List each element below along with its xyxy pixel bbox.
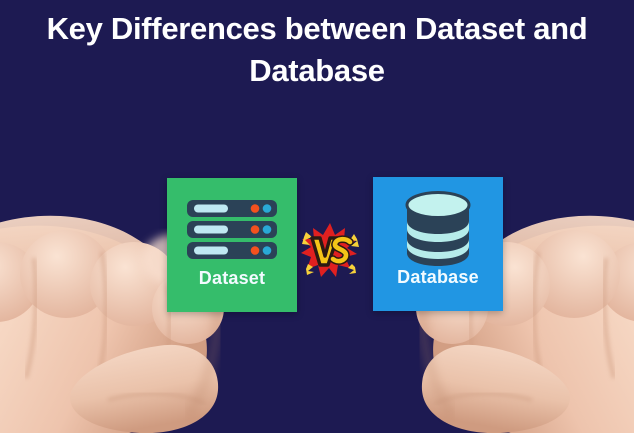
dataset-card-label: Dataset <box>199 268 265 289</box>
versus-burst-icon <box>300 220 360 280</box>
page-title: Key Differences between Dataset and Data… <box>0 8 634 92</box>
poster-canvas: Key Differences between Dataset and Data… <box>0 0 634 433</box>
page-title-line-1: Key Differences between Dataset and <box>0 8 634 50</box>
dataset-card[interactable]: Dataset <box>167 178 297 312</box>
page-title-line-2: Database <box>0 50 634 92</box>
server-rack-icon <box>185 194 279 266</box>
database-cylinder-icon <box>403 193 473 265</box>
database-card-label: Database <box>397 267 479 288</box>
database-card[interactable]: Database <box>373 177 503 311</box>
